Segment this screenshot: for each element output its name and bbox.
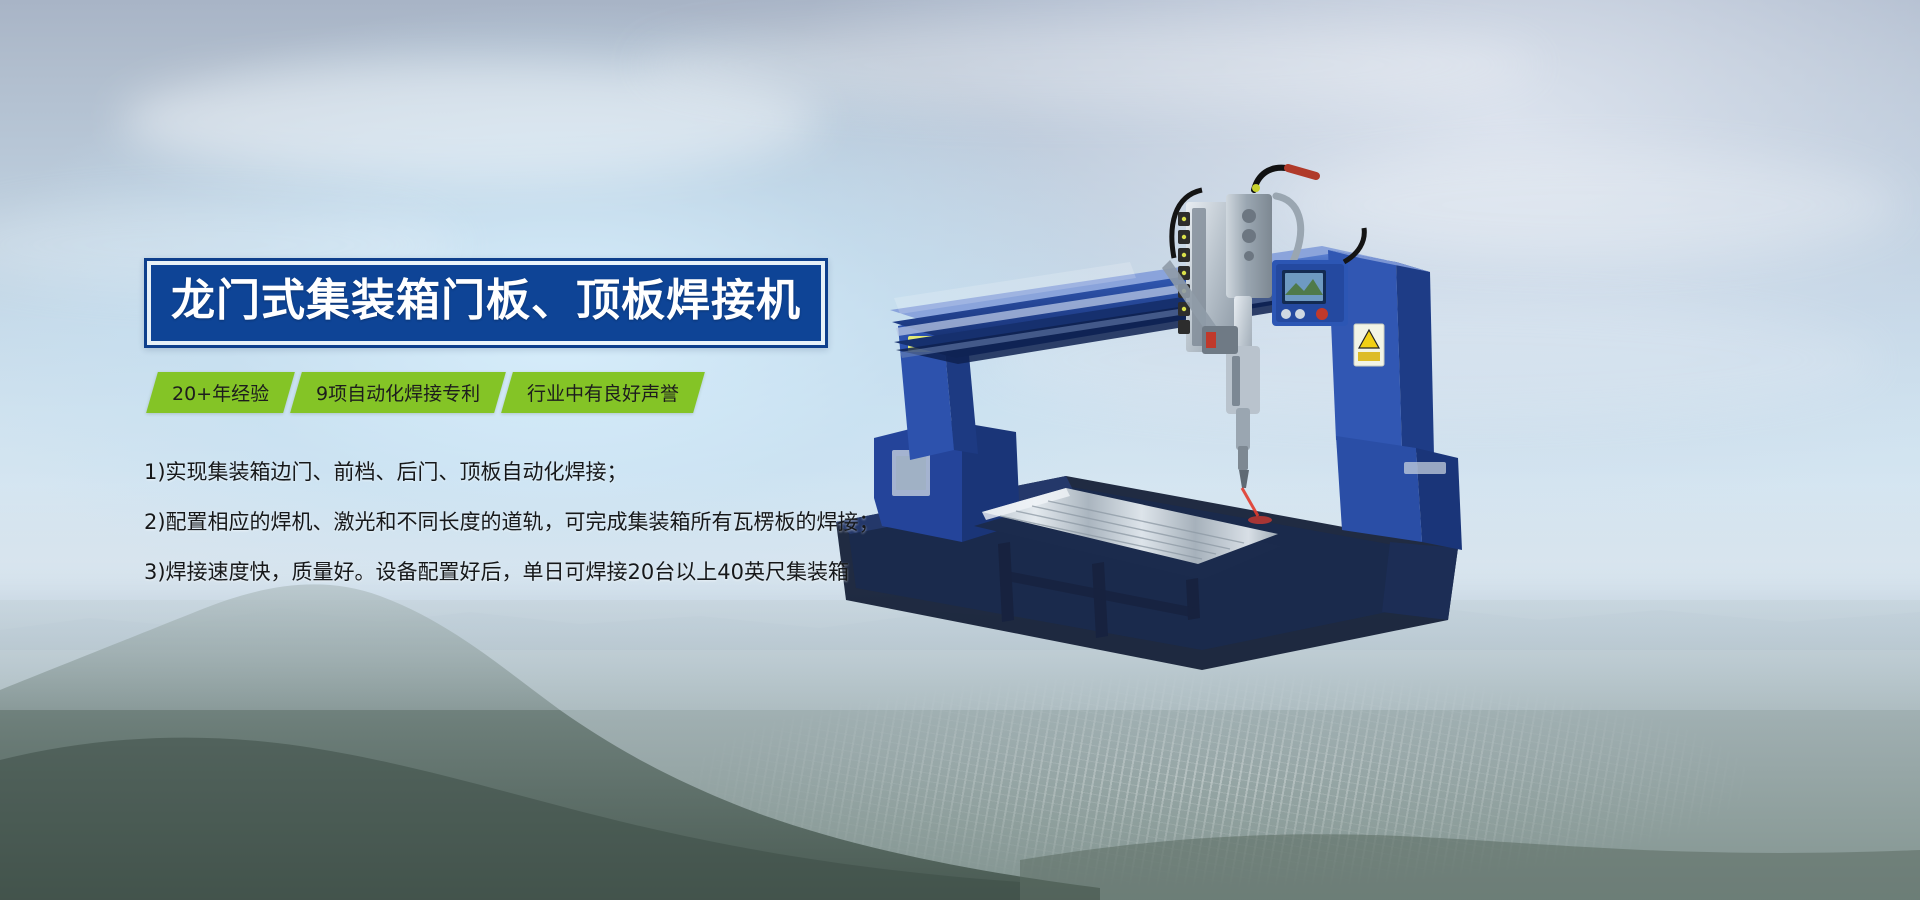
welding-head-carriage [1162, 168, 1316, 524]
feature-bullet: 1)实现集装箱边门、前档、后门、顶板自动化焊接； [144, 447, 904, 497]
foreground-hill-right [1020, 710, 1920, 900]
feature-tag-label: 20+年经验 [166, 379, 275, 406]
banner-content: 龙门式集装箱门板、顶板焊接机 20+年经验 9项自动化焊接专利 行业中有良好声誉… [144, 258, 904, 597]
feature-bullet: 2)配置相应的焊机、激光和不同长度的道轨，可完成集装箱所有瓦楞板的焊接； [144, 497, 904, 547]
feature-tag-label: 9项自动化焊接专利 [310, 379, 486, 406]
feature-tag-reputation: 行业中有良好声誉 [501, 372, 705, 413]
feature-bullet-list: 1)实现集装箱边门、前档、后门、顶板自动化焊接； 2)配置相应的焊机、激光和不同… [144, 447, 904, 597]
page-title-inner: 龙门式集装箱门板、顶板焊接机 [151, 265, 821, 341]
feature-tag-patents: 9项自动化焊接专利 [290, 372, 506, 413]
feature-tag-label: 行业中有良好声誉 [521, 379, 685, 406]
page-title-box: 龙门式集装箱门板、顶板焊接机 [144, 258, 828, 348]
feature-tag-list: 20+年经验 9项自动化焊接专利 行业中有良好声誉 [152, 372, 904, 413]
feature-bullet: 3)焊接速度快，质量好。设备配置好后，单日可焊接20台以上40英尺集装箱 [144, 547, 904, 597]
welding-machine-image [830, 150, 1470, 670]
page-title: 龙门式集装箱门板、顶板焊接机 [171, 274, 801, 328]
cloud [640, 20, 1540, 110]
feature-tag-experience: 20+年经验 [146, 372, 295, 413]
hero-banner: 龙门式集装箱门板、顶板焊接机 20+年经验 9项自动化焊接专利 行业中有良好声誉… [0, 0, 1920, 900]
